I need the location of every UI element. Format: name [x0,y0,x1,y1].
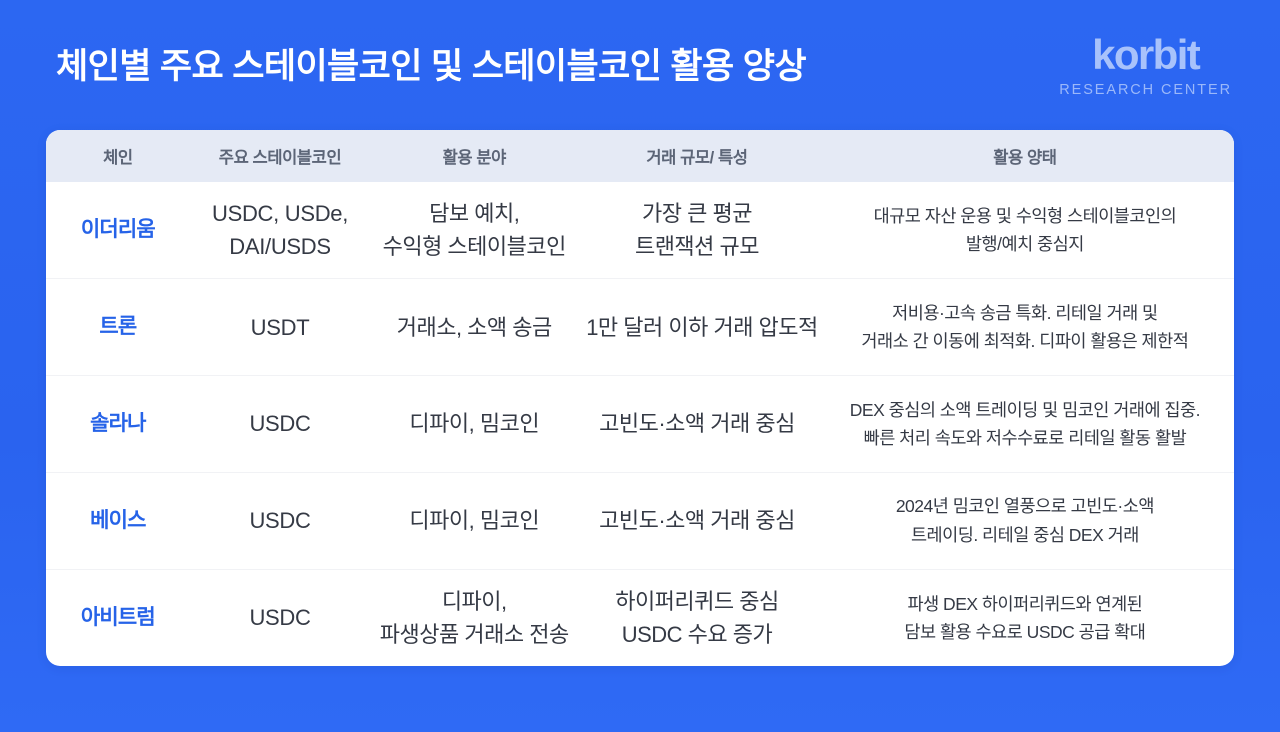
korbit-logo: korbit RESEARCH CENTER [1059,34,1232,98]
cell-usage: 디파이, 밈코인 [370,472,578,569]
cell-usage-line1: 담보 예치, [378,197,570,230]
cell-detail-line1: 대규모 자산 운용 및 수익형 스테이블코인의 [836,202,1214,230]
cell-coin: USDC [190,376,371,473]
cell-usage-line1: 디파이, 밈코인 [378,504,570,537]
cell-usage-line1: 디파이, 밈코인 [378,407,570,440]
table-row: 트론 USDT 거래소, 소액 송금 1만 달러 이하 거래 압도적 저비용·고… [46,279,1234,376]
cell-scale: 가장 큰 평균 트랜잭션 규모 [578,182,816,279]
cell-scale-line1: 고빈도·소액 거래 중심 [586,504,808,537]
logo-wordmark: korbit [1092,34,1199,76]
cell-coin-line1: USDC [198,407,363,440]
table-row: 솔라나 USDC 디파이, 밈코인 고빈도·소액 거래 중심 DEX 중심의 소… [46,376,1234,473]
table-header-row: 체인 주요 스테이블코인 활용 분야 거래 규모/ 특성 활용 양태 [46,130,1234,182]
cell-detail-line1: DEX 중심의 소액 트레이딩 및 밈코인 거래에 집중. [836,396,1214,424]
cell-detail-line2: 거래소 간 이동에 최적화. 디파이 활용은 제한적 [836,327,1214,355]
table-row: 이더리움 USDC, USDe, DAI/USDS 담보 예치, 수익형 스테이… [46,182,1234,279]
cell-detail-line2: 빠른 처리 속도와 저수수료로 리테일 활동 활발 [836,424,1214,452]
cell-coin-line1: USDT [198,311,363,344]
column-header-usage: 활용 분야 [370,130,578,182]
column-header-detail: 활용 양태 [816,130,1234,182]
cell-coin-line2: DAI/USDS [198,230,363,263]
cell-usage: 담보 예치, 수익형 스테이블코인 [370,182,578,279]
cell-chain: 트론 [46,279,190,376]
slide-header: 체인별 주요 스테이블코인 및 스테이블코인 활용 양상 korbit RESE… [0,0,1280,128]
cell-scale-line1: 가장 큰 평균 [586,197,808,230]
cell-scale-line2: 트랜잭션 규모 [586,230,808,263]
cell-scale-line1: 하이퍼리퀴드 중심 [586,585,808,618]
table-body: 이더리움 USDC, USDe, DAI/USDS 담보 예치, 수익형 스테이… [46,182,1234,666]
cell-scale-line1: 고빈도·소액 거래 중심 [586,407,808,440]
cell-scale: 고빈도·소액 거래 중심 [578,472,816,569]
cell-coin: USDC, USDe, DAI/USDS [190,182,371,279]
cell-usage-line2: 파생상품 거래소 전송 [378,618,570,651]
cell-detail: 2024년 밈코인 열풍으로 고빈도·소액 트레이딩. 리테일 중심 DEX 거… [816,472,1234,569]
cell-usage-line1: 거래소, 소액 송금 [378,311,570,344]
cell-detail-line2: 발행/예치 중심지 [836,230,1214,258]
cell-chain: 솔라나 [46,376,190,473]
slide-root: 체인별 주요 스테이블코인 및 스테이블코인 활용 양상 korbit RESE… [0,0,1280,732]
cell-detail: 저비용·고속 송금 특화. 리테일 거래 및 거래소 간 이동에 최적화. 디파… [816,279,1234,376]
cell-scale: 하이퍼리퀴드 중심 USDC 수요 증가 [578,569,816,666]
cell-coin: USDT [190,279,371,376]
cell-chain: 이더리움 [46,182,190,279]
logo-subtitle: RESEARCH CENTER [1059,83,1232,98]
cell-coin-line1: USDC, USDe, [198,197,363,230]
stablecoin-table-card: 체인 주요 스테이블코인 활용 분야 거래 규모/ 특성 활용 양태 이더리움 … [46,130,1234,666]
cell-scale: 1만 달러 이하 거래 압도적 [578,279,816,376]
cell-detail-line1: 2024년 밈코인 열풍으로 고빈도·소액 [836,492,1214,520]
cell-usage-line1: 디파이, [378,585,570,618]
cell-scale: 고빈도·소액 거래 중심 [578,376,816,473]
cell-detail-line1: 파생 DEX 하이퍼리퀴드와 연계된 [836,590,1214,618]
cell-detail: DEX 중심의 소액 트레이딩 및 밈코인 거래에 집중. 빠른 처리 속도와 … [816,376,1234,473]
cell-detail-line2: 담보 활용 수요로 USDC 공급 확대 [836,618,1214,646]
cell-usage: 거래소, 소액 송금 [370,279,578,376]
cell-coin-line1: USDC [198,504,363,537]
cell-detail-line1: 저비용·고속 송금 특화. 리테일 거래 및 [836,299,1214,327]
cell-chain: 아비트럼 [46,569,190,666]
column-header-scale: 거래 규모/ 특성 [578,130,816,182]
cell-coin-line1: USDC [198,601,363,634]
cell-coin: USDC [190,472,371,569]
table-row: 베이스 USDC 디파이, 밈코인 고빈도·소액 거래 중심 2024년 밈코인… [46,472,1234,569]
cell-coin: USDC [190,569,371,666]
cell-scale-line1: 1만 달러 이하 거래 압도적 [586,311,808,344]
cell-usage-line2: 수익형 스테이블코인 [378,230,570,263]
cell-detail: 대규모 자산 운용 및 수익형 스테이블코인의 발행/예치 중심지 [816,182,1234,279]
cell-scale-line2: USDC 수요 증가 [586,618,808,651]
table-row: 아비트럼 USDC 디파이, 파생상품 거래소 전송 하이퍼리퀴드 중심 USD… [46,569,1234,666]
column-header-chain: 체인 [46,130,190,182]
page-title: 체인별 주요 스테이블코인 및 스테이블코인 활용 양상 [56,46,806,88]
cell-chain: 베이스 [46,472,190,569]
cell-detail-line2: 트레이딩. 리테일 중심 DEX 거래 [836,521,1214,549]
column-header-coin: 주요 스테이블코인 [190,130,371,182]
stablecoin-table: 체인 주요 스테이블코인 활용 분야 거래 규모/ 특성 활용 양태 이더리움 … [46,130,1234,666]
cell-detail: 파생 DEX 하이퍼리퀴드와 연계된 담보 활용 수요로 USDC 공급 확대 [816,569,1234,666]
table-header: 체인 주요 스테이블코인 활용 분야 거래 규모/ 특성 활용 양태 [46,130,1234,182]
cell-usage: 디파이, 파생상품 거래소 전송 [370,569,578,666]
cell-usage: 디파이, 밈코인 [370,376,578,473]
